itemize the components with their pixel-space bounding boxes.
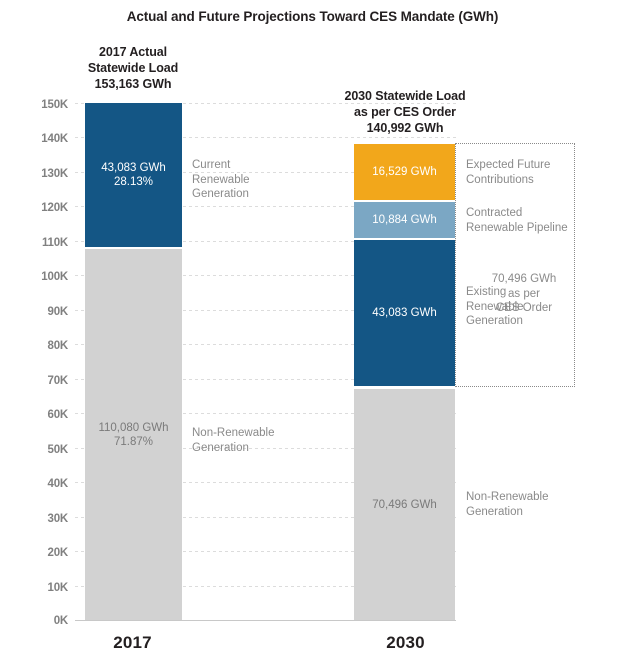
y-tick-10k: 10K [8,582,68,594]
x-axis-baseline [75,620,456,621]
y-tick-30k: 30K [8,513,68,525]
bar-2017-current-renewable-value: 43,083 GWh 28.13% [101,161,166,189]
category-label-2030: 2030 [343,633,468,653]
y-tick-130k: 130K [8,168,68,180]
annotation-2030-non-renewable: Non-Renewable Generation [466,490,576,519]
column-heading-2017: 2017 Actual Statewide Load 153,163 GWh [38,44,228,92]
annotation-2030-contracted-pipeline: Contracted Renewable Pipeline [466,206,581,235]
annotation-2017-non-renewable: Non-Renewable Generation [192,426,302,455]
bar-2030-expected-future[interactable]: 16,529 GWh [354,144,455,200]
bar-2030-contracted-pipeline-value: 10,884 GWh [372,213,437,227]
y-tick-40k: 40K [8,478,68,490]
y-tick-120k: 120K [8,202,68,214]
y-tick-90k: 90K [8,306,68,318]
bar-2017-current-renewable[interactable]: 43,083 GWh 28.13% [85,103,182,247]
annotation-2030-expected-future: Expected Future Contributions [466,158,576,187]
y-tick-50k: 50K [8,444,68,456]
bar-2030-expected-future-value: 16,529 GWh [372,165,437,179]
y-axis: 150K 140K 130K 120K 110K 100K 90K 80K 70… [0,0,68,663]
y-tick-60k: 60K [8,409,68,421]
y-tick-80k: 80K [8,340,68,352]
y-tick-140k: 140K [8,133,68,145]
y-tick-100k: 100K [8,271,68,283]
y-tick-70k: 70K [8,375,68,387]
annotation-2030-existing-renewable: Existing Renewable Generation [466,285,566,329]
y-tick-110k: 110K [8,237,68,249]
bar-2017-non-renewable[interactable]: 110,080 GWh 71.87% [85,249,182,620]
y-tick-20k: 20K [8,547,68,559]
y-tick-150k: 150K [8,99,68,111]
category-label-2017: 2017 [70,633,195,653]
annotation-2017-current-renewable: Current Renewable Generation [192,158,292,202]
bar-2017-non-renewable-value: 110,080 GWh 71.87% [98,421,168,449]
bar-2030-existing-renewable[interactable]: 43,083 GWh [354,240,455,386]
y-tick-0k: 0K [8,615,68,627]
bar-2030-contracted-pipeline[interactable]: 10,884 GWh [354,201,455,239]
chart-title: Actual and Future Projections Toward CES… [0,9,625,24]
bar-2030-existing-renewable-value: 43,083 GWh [372,306,437,320]
chart-container: Actual and Future Projections Toward CES… [0,0,625,663]
bar-2030-non-renewable[interactable]: 70,496 GWh [354,389,455,620]
column-heading-2030: 2030 Statewide Load as per CES Order 140… [315,88,495,136]
bar-2030-non-renewable-value: 70,496 GWh [372,498,437,512]
